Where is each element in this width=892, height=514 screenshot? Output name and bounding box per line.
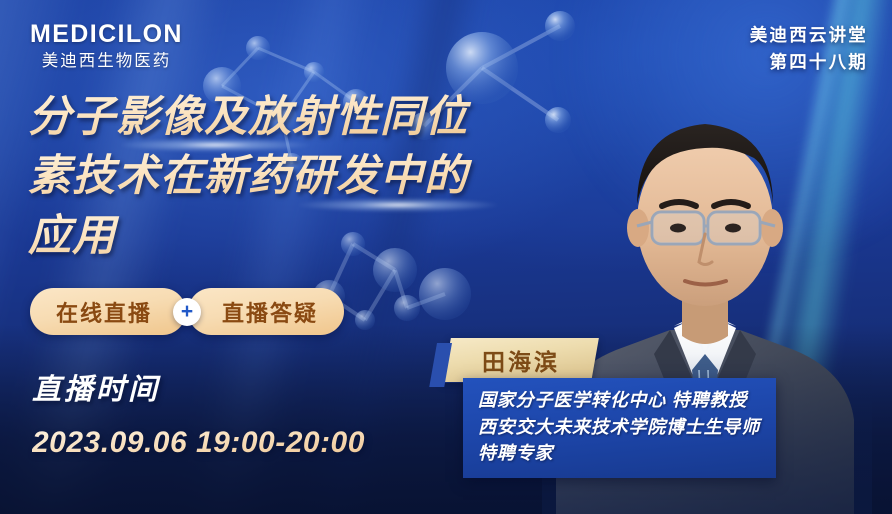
badge-live-stream[interactable]: 在线直播 [30,288,186,335]
format-badges: 在线直播 + 直播答疑 [30,288,344,335]
schedule-value: 2023.09.06 19:00-20:00 [32,428,365,458]
logo-chinese-name: 美迪西生物医药 [30,53,183,70]
credential-line-1: 国家分子医学转化中心 特聘教授 [478,387,760,414]
credential-line-2: 西安交大未来技术学院博士生导师 [478,414,760,441]
logo-wordmark: MEDICILON [30,22,183,47]
schedule-block: 直播时间 2023.09.06 19:00-20:00 [32,376,365,458]
medicilon-logo: MEDICILON 美迪西生物医药 [30,22,183,70]
speaker-name-banner: 田海滨 [443,338,599,382]
credential-line-3: 特聘专家 [478,440,760,467]
webinar-promo-banner: MEDICILON 美迪西生物医药 美迪西云讲堂 第四十八期 分子影像及放射性同… [0,0,892,514]
schedule-label: 直播时间 [32,376,365,405]
plus-icon: + [173,298,201,326]
badge-live-qa[interactable]: 直播答疑 [188,288,344,335]
series-name: 美迪西云讲堂 [750,22,868,49]
speaker-name: 田海滨 [482,343,560,377]
speaker-credentials: 国家分子医学转化中心 特聘教授 西安交大未来技术学院博士生导师 特聘专家 [463,378,776,478]
